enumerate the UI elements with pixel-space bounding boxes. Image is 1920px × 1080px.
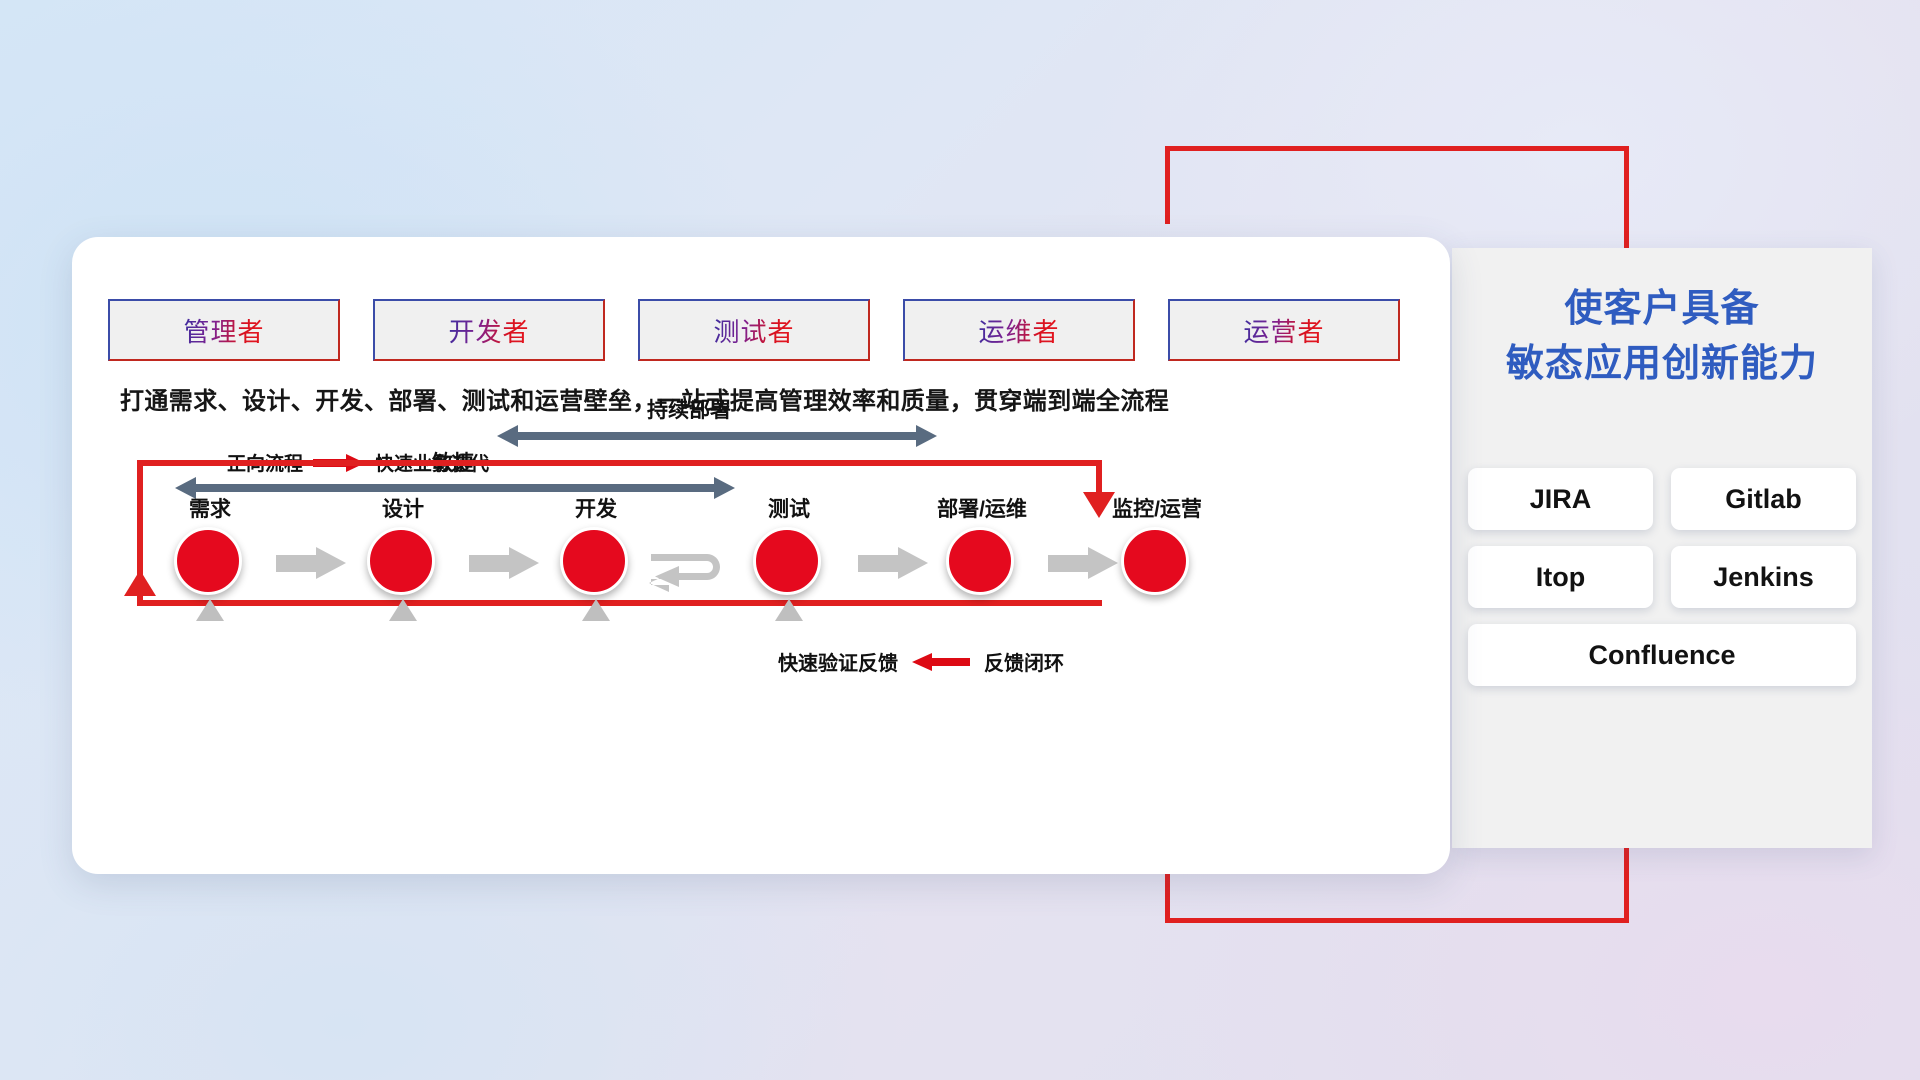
role-box-ops-engineer[interactable]: 运维者: [903, 299, 1135, 361]
outer-frame-left-line: [1165, 146, 1170, 224]
tool-jenkins[interactable]: Jenkins: [1671, 546, 1856, 608]
pipeline-arrow-4-icon: [1048, 547, 1118, 579]
node-up-arrow-icon: [196, 599, 224, 621]
feedback-target-label: 快速验证反馈: [778, 647, 898, 676]
pipeline-arrow-1-icon: [276, 547, 346, 579]
description-text: 打通需求、设计、开发、部署、测试和运营壁垒，一站式提高管理效率和质量，贯穿端到端…: [120, 381, 1420, 416]
node-circle-icon: [753, 527, 821, 595]
pipeline-arrow-3-icon: [858, 547, 928, 579]
panel-title-line-2: 敏态应用创新能力: [1452, 337, 1872, 392]
tool-jira[interactable]: JIRA: [1468, 468, 1653, 530]
continuous-deployment-label: 持续部署: [647, 394, 731, 424]
node-circle-icon: [560, 527, 628, 595]
red-left-arrow-icon: [912, 653, 970, 671]
tool-confluence[interactable]: Confluence: [1468, 624, 1856, 686]
node-up-arrow-icon: [582, 599, 610, 621]
role-box-tester[interactable]: 测试者: [638, 299, 870, 361]
role-box-developer[interactable]: 开发者: [373, 299, 605, 361]
node-label: 设计: [382, 493, 424, 523]
role-box-operator[interactable]: 运营者: [1168, 299, 1400, 361]
role-label: 开发者: [448, 312, 529, 349]
node-circle-icon: [367, 527, 435, 595]
node-label: 监控/运营: [1112, 493, 1202, 523]
loop-back-uturn-icon: [649, 543, 737, 595]
main-card: 管理者 开发者 测试者 运维者 运营者 打通需求、设计、开发、部署、测试和运营壁…: [72, 237, 1450, 874]
node-circle-icon: [946, 527, 1014, 595]
tool-list: JIRA Gitlab Itop Jenkins Confluence: [1468, 468, 1856, 686]
outer-frame-top-line: [1165, 146, 1629, 151]
feedback-source-label: 反馈闭环: [984, 647, 1064, 676]
role-label: 运营者: [1243, 312, 1324, 349]
node-up-arrow-icon: [389, 599, 417, 621]
tool-gitlab[interactable]: Gitlab: [1671, 468, 1856, 530]
node-label: 部署/运维: [937, 493, 1027, 523]
outer-frame-bottom-line: [1165, 918, 1629, 923]
panel-title: 使客户具备 敏态应用创新能力: [1452, 282, 1872, 392]
continuous-deployment-double-arrow-icon: [497, 425, 937, 447]
loop-right-line: [1096, 460, 1102, 496]
pipeline-arrow-2-icon: [469, 547, 539, 579]
loop-top-line: [137, 460, 1102, 466]
role-box-row: 管理者 开发者 测试者 运维者 运营者: [108, 299, 1400, 361]
role-box-manager[interactable]: 管理者: [108, 299, 340, 361]
panel-title-line-1: 使客户具备: [1452, 282, 1872, 337]
node-label: 需求: [189, 493, 231, 523]
tool-itop[interactable]: Itop: [1468, 546, 1653, 608]
node-label: 测试: [768, 493, 810, 523]
feedback-legend: 快速验证反馈 反馈闭环: [778, 647, 1064, 676]
node-circle-icon: [174, 527, 242, 595]
pipeline: 需求 设计 开发 测试: [108, 495, 1218, 625]
node-circle-icon: [1121, 527, 1189, 595]
right-panel: 使客户具备 敏态应用创新能力 JIRA Gitlab Itop Jenkins …: [1452, 248, 1872, 848]
role-label: 测试者: [713, 312, 794, 349]
role-label: 管理者: [183, 312, 264, 349]
node-label: 开发: [575, 493, 617, 523]
node-up-arrow-icon: [775, 599, 803, 621]
role-label: 运维者: [978, 312, 1059, 349]
